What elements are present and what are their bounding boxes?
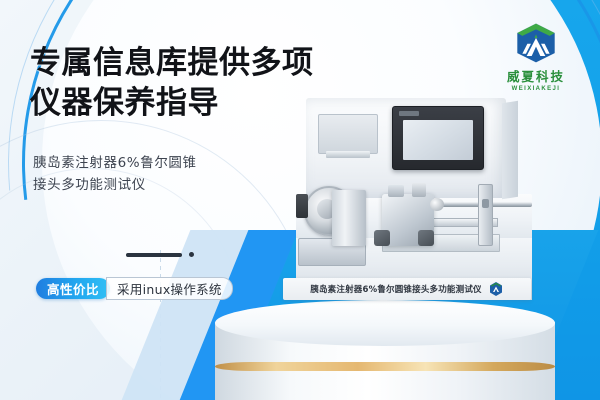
badge-value-pill[interactable]: 高性价比 [36,278,110,299]
machine-contact-pad [296,194,308,218]
pedestal-top-surface [215,300,555,346]
badge-os-tag[interactable]: 采用inux操作系统 [106,277,233,300]
headline-line-2: 仪器保养指导 [30,84,314,124]
hexagon-shield-icon [513,22,559,64]
machine-knob-left [374,230,390,246]
pedestal-gold-ring [215,362,555,371]
machine-right-bracket [478,184,493,246]
subtitle-line-1: 胰岛素注射器6%鲁尔圆锥 [33,152,197,174]
machine-mounting-plate [318,114,378,154]
promo-banner: 胰岛素注射器6%鲁尔圆锥接头多功能测试仪 专属信息库提供多项 仪器保养指导 胰岛… [0,0,600,400]
hmi-screen [403,120,473,160]
feature-badges: 高性价比 采用inux操作系统 [36,277,233,300]
machine-shaft-head [430,198,444,211]
mini-hexagon-shield-icon [488,281,504,297]
subtitle: 胰岛素注射器6%鲁尔圆锥 接头多功能测试仪 [33,152,197,197]
divider-bar [126,253,182,257]
brand-logo[interactable]: 威夏科技 WEIXIAKEJI [490,22,582,92]
subtitle-line-2: 接头多功能测试仪 [33,174,197,196]
product-machine-image [296,98,546,298]
brand-name-cn: 威夏科技 [490,66,582,85]
headline-line-1: 专属信息库提供多项 [30,44,314,84]
brand-name-en: WEIXIAKEJI [490,86,582,92]
product-pedestal [215,300,555,400]
machine-knob-right [418,230,434,246]
machine-hmi-panel [392,106,484,170]
hmi-brand-strip [399,111,419,116]
page-title: 专属信息库提供多项 仪器保养指导 [30,44,314,123]
product-caption-text: 胰岛素注射器6%鲁尔圆锥接头多功能测试仪 [310,283,481,295]
divider-dot [189,252,194,257]
product-caption-strip: 胰岛素注射器6%鲁尔圆锥接头多功能测试仪 [283,278,531,300]
machine-cabinet-side [502,101,518,200]
machine-support-block [332,190,366,246]
decorative-divider [126,252,194,257]
